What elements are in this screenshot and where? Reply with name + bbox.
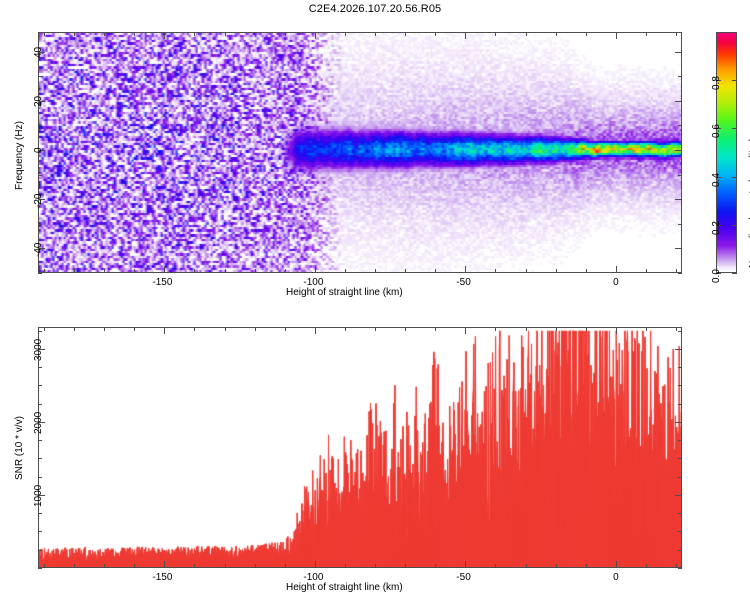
axis-tick	[74, 269, 75, 273]
axis-tick	[646, 32, 647, 36]
axis-tick	[678, 440, 682, 441]
axis-tick	[345, 269, 346, 273]
axis-tick	[38, 331, 42, 332]
axis-tick	[495, 269, 496, 273]
axis-tick	[38, 550, 42, 551]
axis-tick	[465, 32, 466, 39]
axis-tick	[732, 80, 737, 81]
figure-title: C2E4.2026.107.20.56.R05	[0, 3, 750, 15]
snr-line-plot	[39, 328, 681, 567]
axis-tick	[405, 564, 406, 568]
axis-tick	[285, 32, 286, 36]
axis-tick	[732, 177, 737, 178]
axis-tick	[225, 564, 226, 568]
axis-tick	[255, 327, 256, 331]
snr-y-axis-title: SNR (10 * v/v)	[14, 416, 25, 480]
axis-tick	[676, 269, 677, 273]
axis-tick-label: 3000	[33, 339, 44, 361]
axis-tick	[315, 32, 316, 39]
axis-tick	[255, 269, 256, 273]
axis-tick	[586, 564, 587, 568]
axis-tick	[345, 327, 346, 331]
axis-tick	[134, 32, 135, 36]
axis-tick	[38, 458, 42, 459]
axis-tick	[164, 32, 165, 39]
axis-tick	[465, 327, 466, 334]
axis-tick	[38, 568, 42, 569]
axis-tick	[435, 564, 436, 568]
axis-tick-label: 1000	[33, 485, 44, 507]
axis-tick	[435, 269, 436, 273]
axis-tick	[405, 32, 406, 36]
axis-tick	[586, 269, 587, 273]
axis-tick	[38, 76, 42, 77]
axis-tick	[675, 150, 682, 151]
axis-tick	[465, 561, 466, 568]
axis-tick	[38, 367, 42, 368]
axis-tick	[194, 327, 195, 331]
axis-tick	[678, 224, 682, 225]
axis-tick	[675, 199, 682, 200]
axis-tick	[285, 564, 286, 568]
axis-tick	[44, 564, 45, 568]
axis-tick	[526, 327, 527, 331]
axis-tick	[678, 367, 682, 368]
axis-tick	[194, 269, 195, 273]
axis-tick	[495, 564, 496, 568]
axis-tick-label: 0	[613, 277, 619, 288]
axis-tick	[435, 32, 436, 36]
colorbar-tick-label: 0.4	[711, 173, 722, 187]
axis-tick	[678, 568, 682, 569]
axis-tick	[104, 32, 105, 36]
axis-tick	[225, 32, 226, 36]
axis-tick	[164, 561, 165, 568]
axis-tick	[586, 32, 587, 36]
axis-tick	[526, 564, 527, 568]
axis-tick	[678, 331, 682, 332]
axis-tick	[646, 327, 647, 331]
axis-tick	[675, 52, 682, 53]
axis-tick	[375, 32, 376, 36]
axis-tick	[164, 327, 165, 334]
axis-tick	[134, 564, 135, 568]
axis-tick	[38, 224, 42, 225]
axis-tick	[616, 266, 617, 273]
axis-tick	[465, 266, 466, 273]
axis-tick	[405, 327, 406, 331]
axis-tick	[678, 175, 682, 176]
axis-tick	[678, 458, 682, 459]
axis-tick-label: -50	[456, 572, 470, 583]
axis-tick	[164, 266, 165, 273]
axis-tick	[315, 327, 316, 334]
axis-tick	[38, 385, 42, 386]
axis-tick	[375, 564, 376, 568]
axis-tick	[678, 477, 682, 478]
figure-root: C2E4.2026.107.20.56.R05 -150-100-500-40-…	[0, 0, 750, 600]
axis-tick	[676, 327, 677, 331]
colorbar-gradient	[717, 33, 736, 272]
axis-tick	[44, 269, 45, 273]
axis-tick	[104, 327, 105, 331]
axis-tick	[225, 269, 226, 273]
axis-tick	[375, 327, 376, 331]
axis-tick	[44, 327, 45, 331]
axis-tick	[675, 495, 682, 496]
axis-tick	[676, 564, 677, 568]
axis-tick	[285, 327, 286, 331]
axis-tick	[38, 513, 42, 514]
axis-tick	[44, 32, 45, 36]
axis-tick	[495, 32, 496, 36]
axis-tick	[556, 327, 557, 331]
axis-tick	[435, 327, 436, 331]
axis-tick	[556, 269, 557, 273]
spectrogram-image	[39, 33, 681, 272]
axis-tick	[74, 564, 75, 568]
axis-tick-label: 2000	[33, 412, 44, 434]
axis-tick	[38, 125, 42, 126]
axis-tick	[495, 327, 496, 331]
axis-tick	[134, 327, 135, 331]
axis-tick	[678, 385, 682, 386]
axis-tick	[732, 273, 737, 274]
axis-tick	[675, 248, 682, 249]
axis-tick	[646, 269, 647, 273]
axis-tick	[678, 273, 682, 274]
axis-tick	[675, 101, 682, 102]
axis-tick	[675, 422, 682, 423]
colorbar-tick-label: 0.2	[711, 221, 722, 235]
axis-tick	[732, 128, 737, 129]
axis-tick-label: -150	[152, 572, 172, 583]
axis-tick-label: 20	[33, 96, 44, 107]
axis-tick	[678, 531, 682, 532]
axis-tick	[134, 269, 135, 273]
axis-tick	[526, 32, 527, 36]
axis-tick	[678, 550, 682, 551]
colorbar-tick-label: 0.6	[711, 124, 722, 138]
colorbar	[716, 32, 737, 273]
axis-tick	[104, 564, 105, 568]
axis-tick-label: 40	[33, 47, 44, 58]
axis-tick	[678, 125, 682, 126]
axis-tick	[38, 404, 42, 405]
axis-tick	[556, 564, 557, 568]
axis-tick	[194, 564, 195, 568]
axis-tick-label: -50	[456, 277, 470, 288]
colorbar-tick-label: 0.0	[711, 269, 722, 283]
axis-tick	[616, 561, 617, 568]
axis-tick	[675, 349, 682, 350]
axis-tick	[74, 32, 75, 36]
axis-tick	[225, 327, 226, 331]
axis-tick	[556, 32, 557, 36]
axis-tick	[676, 32, 677, 36]
axis-tick	[255, 564, 256, 568]
axis-tick	[526, 269, 527, 273]
axis-tick	[678, 404, 682, 405]
axis-tick	[38, 477, 42, 478]
axis-tick	[678, 76, 682, 77]
axis-tick	[345, 564, 346, 568]
axis-tick	[104, 269, 105, 273]
spectrogram-x-axis-title: Height of straight line (km)	[286, 287, 403, 298]
axis-tick	[345, 32, 346, 36]
axis-tick	[646, 564, 647, 568]
axis-tick-label: 0	[613, 572, 619, 583]
axis-tick-label: -40	[33, 243, 44, 257]
spectrogram-axes	[38, 32, 682, 273]
axis-tick	[38, 273, 42, 274]
axis-tick	[616, 327, 617, 334]
axis-tick	[255, 32, 256, 36]
axis-tick	[285, 269, 286, 273]
axis-tick	[38, 531, 42, 532]
axis-tick	[194, 32, 195, 36]
axis-tick-label: 0	[33, 147, 44, 153]
axis-tick-label: -20	[33, 194, 44, 208]
axis-tick	[375, 269, 376, 273]
axis-tick	[315, 266, 316, 273]
snr-axes	[38, 327, 682, 568]
colorbar-tick-label: 0.8	[711, 76, 722, 90]
snr-x-axis-title: Height of straight line (km)	[286, 582, 403, 593]
axis-tick	[405, 269, 406, 273]
axis-tick	[732, 225, 737, 226]
axis-tick	[38, 440, 42, 441]
axis-tick	[586, 327, 587, 331]
axis-tick	[616, 32, 617, 39]
spectrogram-y-axis-title: Frequency (Hz)	[14, 121, 25, 190]
axis-tick-label: -150	[152, 277, 172, 288]
axis-tick	[74, 327, 75, 331]
axis-tick	[315, 561, 316, 568]
axis-tick	[38, 175, 42, 176]
axis-tick	[678, 513, 682, 514]
